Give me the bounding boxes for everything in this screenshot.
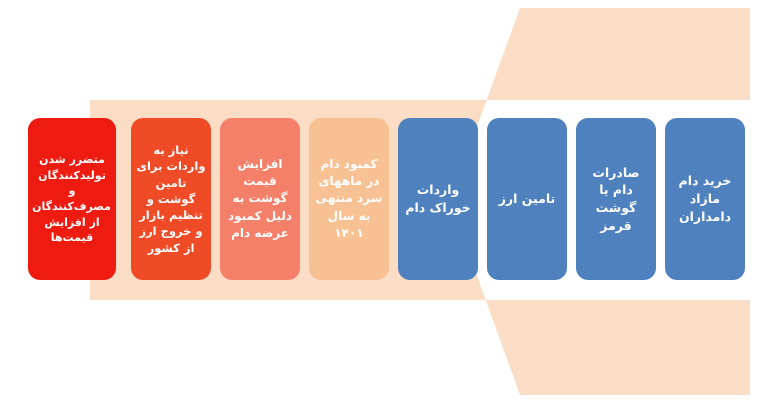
node-5[interactable]: کمبود دام در ماههای سرد منتهی به سال ۱۴۰… xyxy=(309,118,389,280)
node-6[interactable]: افزایش قیمت گوشت به دلیل کمبود عرضه دام xyxy=(220,118,300,280)
node-8[interactable]: متضرر شدن تولیدکنندگان و مصرف‌کنندگان از… xyxy=(28,118,116,280)
node-4[interactable]: واردات خوراک دام xyxy=(398,118,478,280)
node-7-label: نیاز به واردات برای تامین گوشت و تنظیم ب… xyxy=(136,142,206,256)
node-1[interactable]: خرید دام مازاد دامداران xyxy=(665,118,745,280)
node-5-label: کمبود دام در ماههای سرد منتهی به سال ۱۴۰… xyxy=(314,156,384,241)
node-3[interactable]: تامین ارز xyxy=(487,118,567,280)
node-2[interactable]: صادرات دام یا گوشت قرمز xyxy=(576,118,656,280)
node-4-label: واردات خوراک دام xyxy=(403,181,473,217)
node-3-label: تامین ارز xyxy=(492,190,562,208)
node-8-label: متضرر شدن تولیدکنندگان و مصرف‌کنندگان از… xyxy=(33,152,111,246)
diagram-canvas: خرید دام مازاد دامداران صادرات دام یا گو… xyxy=(0,0,773,411)
node-2-label: صادرات دام یا گوشت قرمز xyxy=(581,164,651,235)
node-7[interactable]: نیاز به واردات برای تامین گوشت و تنظیم ب… xyxy=(131,118,211,280)
node-6-label: افزایش قیمت گوشت به دلیل کمبود عرضه دام xyxy=(225,156,295,241)
node-1-label: خرید دام مازاد دامداران xyxy=(670,172,740,225)
